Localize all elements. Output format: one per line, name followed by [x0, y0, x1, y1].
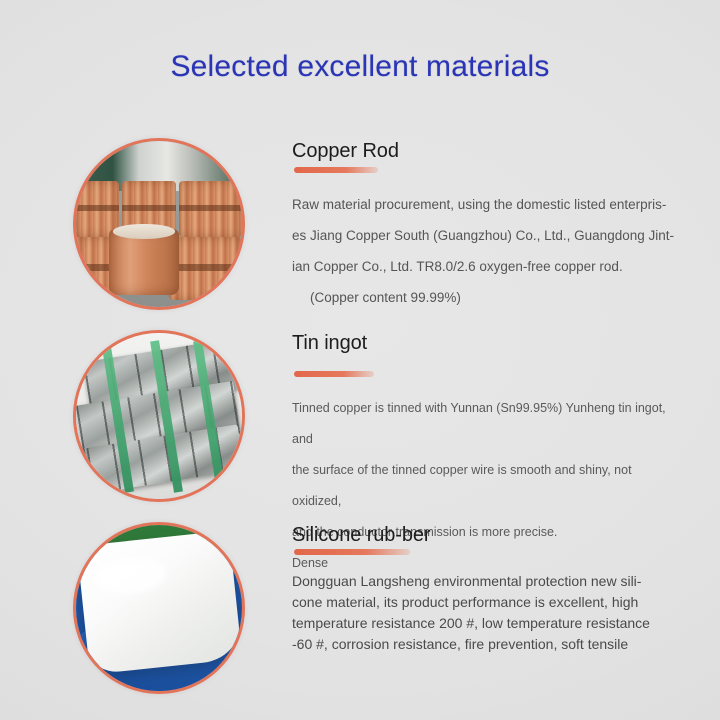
copper-rod-line-1: Raw material procurement, using the dome… [292, 189, 684, 220]
copper-rod-heading: Copper Rod [292, 138, 442, 165]
tin-ingot-stack-photo [73, 330, 245, 502]
tin-ingot-line-1: Tinned copper is tinned with Yunnan (Sn9… [292, 393, 684, 455]
tin-ingot-line-2: the surface of the tinned copper wire is… [292, 455, 684, 517]
silicone-rubber-description: Dongguan Langsheng environmental protect… [292, 571, 684, 655]
silicone-block-illustration [76, 525, 242, 691]
silicone-rubber-text-block: Silicone rub-ber Dongguan Langsheng envi… [292, 522, 684, 655]
tin-ingot-underline [294, 371, 374, 377]
copper-rod-line-3: ian Copper Co., Ltd. TR8.0/2.6 oxygen-fr… [292, 251, 684, 282]
tin-ingot-heading: Tin ingot [292, 330, 684, 357]
silicone-rubber-line-3: temperature resistance 200 #, low temper… [292, 613, 684, 634]
silicone-rubber-line-2: cone material, its product performance i… [292, 592, 684, 613]
silicone-rubber-heading: Silicone rub-ber [292, 522, 462, 548]
silicone-rubber-line-1: Dongguan Langsheng environmental protect… [292, 571, 684, 592]
silicone-rubber-underline [294, 549, 410, 555]
copper-rod-line-2: es Jiang Copper South (Guangzhou) Co., L… [292, 220, 684, 251]
copper-rod-underline [294, 167, 378, 173]
copper-rod-text-block: Copper Rod Raw material procurement, usi… [292, 138, 684, 313]
page-title: Selected excellent materials [0, 50, 720, 84]
copper-rod-description: Raw material procurement, using the dome… [292, 189, 684, 313]
copper-rod-coils-photo [73, 138, 245, 310]
silicone-rubber-block-photo [73, 522, 245, 694]
copper-coils-illustration [76, 141, 242, 307]
copper-rod-purity-note: (Copper content 99.99%) [292, 282, 684, 313]
silicone-rubber-line-4: -60 #, corrosion resistance, fire preven… [292, 634, 684, 655]
tin-ingots-illustration [76, 333, 242, 499]
